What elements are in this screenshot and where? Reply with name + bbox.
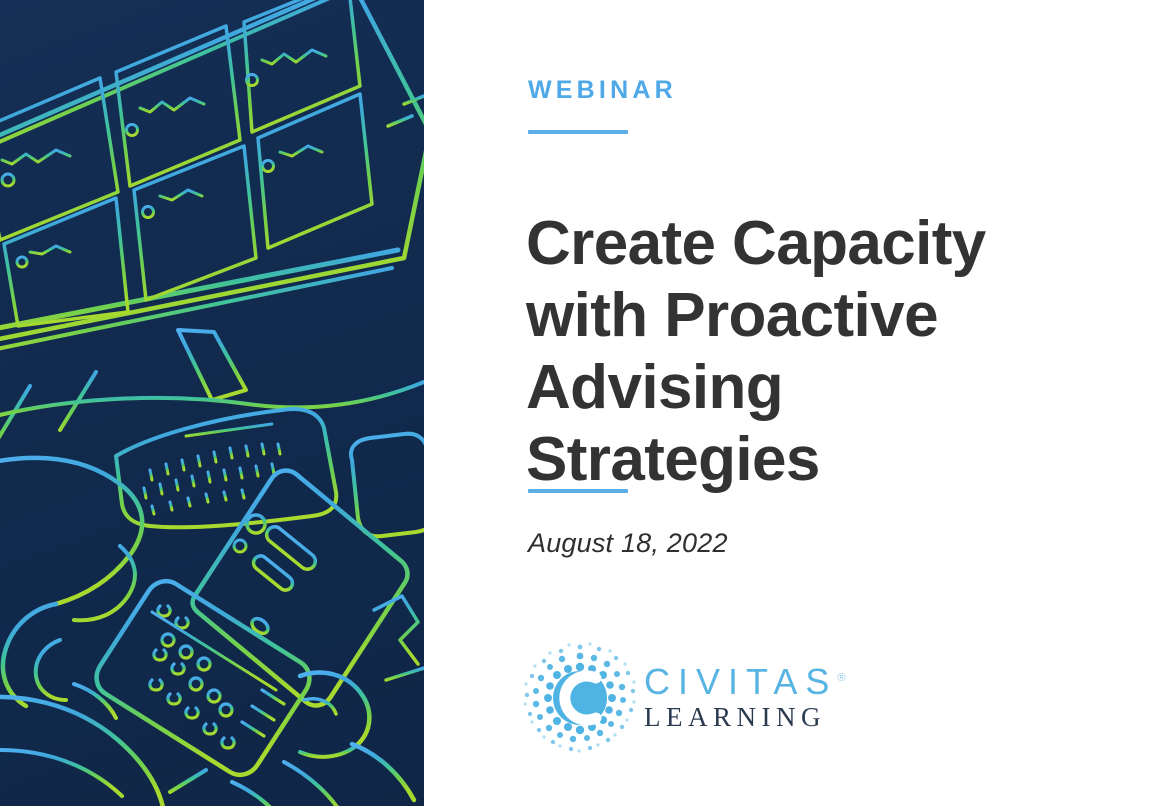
content-panel: WEBINAR Create Capacity with Proactive A… (424, 0, 1156, 806)
registered-trademark-icon: ® (837, 672, 845, 684)
divider-bottom (528, 489, 628, 493)
title-line-1: Create Capacity (526, 208, 1126, 280)
title-line-3: Advising (526, 352, 1126, 424)
logo-brand-secondary: LEARNING (644, 702, 845, 733)
divider-top (528, 130, 628, 134)
event-date: August 18, 2022 (528, 530, 728, 557)
logo-wordmark: CIVITAS® LEARNING (644, 663, 845, 734)
page-title: Create Capacity with Proactive Advising … (526, 208, 1126, 496)
title-line-4: Strategies (526, 424, 1126, 496)
logo-brand-primary-text: CIVITAS (644, 661, 837, 702)
eyebrow-label: WEBINAR (528, 78, 677, 103)
civitas-dotted-c-mark-icon (524, 642, 636, 754)
logo-brand-primary: CIVITAS® (644, 663, 845, 701)
webinar-title-slide: WEBINAR Create Capacity with Proactive A… (0, 0, 1156, 806)
title-line-2: with Proactive (526, 280, 1126, 352)
desk-scene-line-art (0, 0, 424, 806)
illustration-panel (0, 0, 424, 806)
civitas-learning-logo: CIVITAS® LEARNING (524, 638, 845, 758)
